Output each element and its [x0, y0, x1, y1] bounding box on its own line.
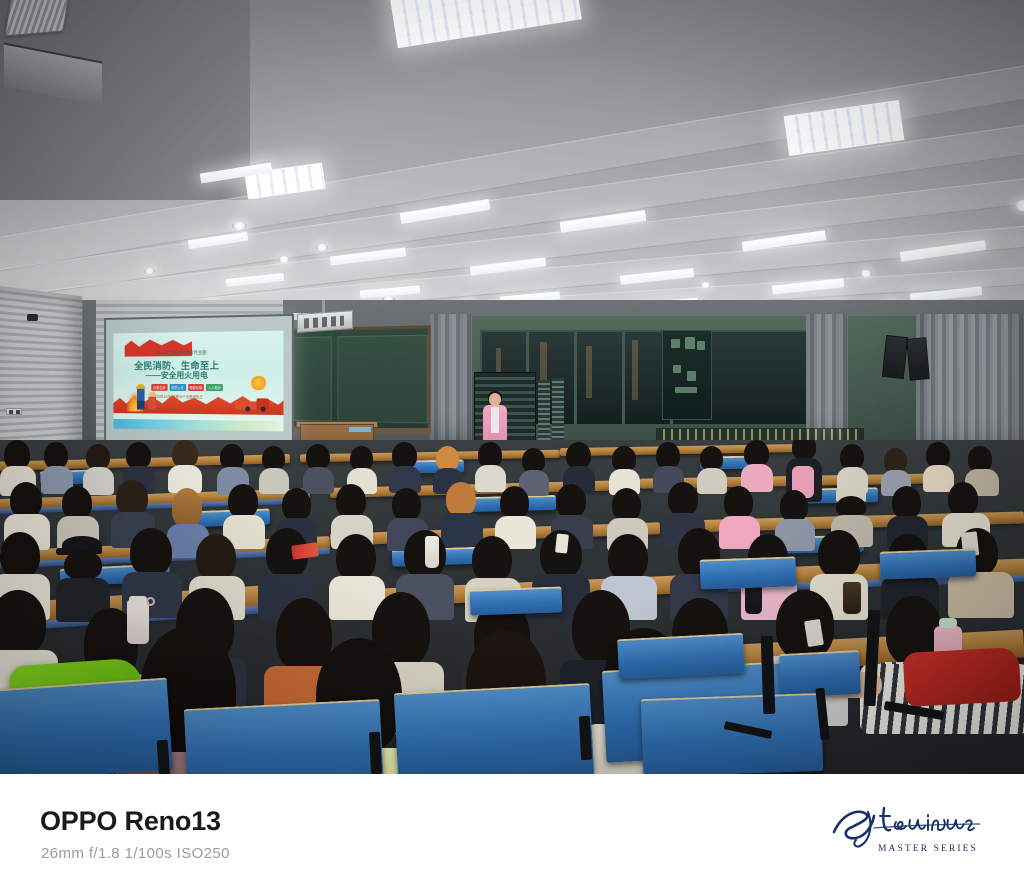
seat-back	[880, 548, 977, 579]
water-tumbler	[127, 600, 149, 644]
presenter-person	[480, 393, 510, 445]
lectern-paper	[349, 427, 371, 432]
slide-chip: 警钟长鸣	[188, 384, 205, 391]
wall-speaker	[906, 337, 930, 381]
air-vent-icon	[4, 0, 69, 36]
slide-kicker: 2025年全国消防宣传月主题	[155, 350, 206, 356]
red-jacket	[903, 647, 1022, 707]
ceiling-downlight	[144, 268, 155, 274]
seat-back-foreground	[0, 677, 173, 774]
slide-child-figure	[147, 392, 157, 410]
photo-card: 2025年全国消防宣传月主题 全民消防、生命至上 ——安全用火用电 珍爱生命 防…	[0, 0, 1024, 896]
ceiling-downlight	[278, 256, 290, 263]
ceiling	[0, 0, 1024, 330]
slide-chip-list: 珍爱生命 防范火灾 警钟长鸣 人人有责	[151, 384, 223, 391]
seat-frame	[369, 732, 382, 774]
slide-star-burst	[250, 376, 266, 390]
projector-lens-icon	[304, 316, 344, 329]
projector	[297, 310, 353, 333]
wall-grille	[538, 380, 550, 446]
slide-bottom-bar	[113, 419, 283, 432]
projected-slide: 2025年全国消防宣传月主题 全民消防、生命至上 ——安全用火用电 珍爱生命 防…	[113, 331, 283, 432]
ceiling-downlight	[1014, 200, 1024, 211]
seat-frame	[579, 716, 592, 761]
caption-bar: OPPO Reno13 26mm f/1.8 1/100s ISO250	[0, 774, 1024, 896]
wall-poster	[662, 330, 712, 420]
presenter-inner-shirt	[491, 407, 499, 433]
slide-footer: 2025年11月9日第34个全国消防日	[153, 394, 202, 399]
audience-area	[0, 440, 1024, 774]
seat-back	[617, 633, 745, 680]
slide-fire-truck	[234, 395, 269, 412]
smartphone	[555, 533, 569, 553]
slide-title-line2: ——安全用火用电	[146, 370, 208, 381]
device-model-title: OPPO Reno13	[40, 806, 221, 837]
slide-firefighter-figure	[134, 384, 147, 410]
smartphone-screen	[291, 542, 319, 559]
exif-metadata: 26mm f/1.8 1/100s ISO250	[41, 845, 230, 862]
ceiling-downlight	[700, 282, 711, 288]
projection-screen: 2025年全国消防宣传月主题 全民消防、生命至上 ——安全用火用电 珍爱生命 防…	[104, 314, 294, 448]
wall-socket-icon	[6, 408, 22, 415]
slide-chip: 人人有责	[206, 384, 223, 391]
chalkboard	[282, 325, 431, 432]
slide-chip: 防范火灾	[169, 384, 185, 391]
slide-chip: 珍爱生命	[151, 384, 167, 391]
desk-row	[560, 444, 810, 456]
ceiling-downlight	[316, 244, 328, 251]
wall-speaker	[882, 335, 908, 379]
stay-curious-signature-icon	[828, 802, 988, 850]
brand-watermark: MASTER SERIES	[828, 802, 988, 864]
security-camera-icon	[27, 314, 38, 321]
ceiling-light-panel	[388, 0, 581, 48]
seat-back-foreground	[184, 699, 385, 774]
photograph: 2025年全国消防宣传月主题 全民消防、生命至上 ——安全用火用电 珍爱生命 防…	[0, 0, 1024, 774]
small-bottle	[425, 536, 439, 568]
coffee-cup	[843, 582, 861, 614]
seat-back-foreground	[641, 693, 824, 774]
seat-back-foreground	[394, 683, 595, 774]
seat-back	[470, 586, 563, 615]
ceiling-downlight	[232, 222, 247, 230]
ceiling-downlight	[860, 270, 872, 277]
master-series-label: MASTER SERIES	[878, 844, 978, 854]
seat-back	[700, 556, 797, 589]
